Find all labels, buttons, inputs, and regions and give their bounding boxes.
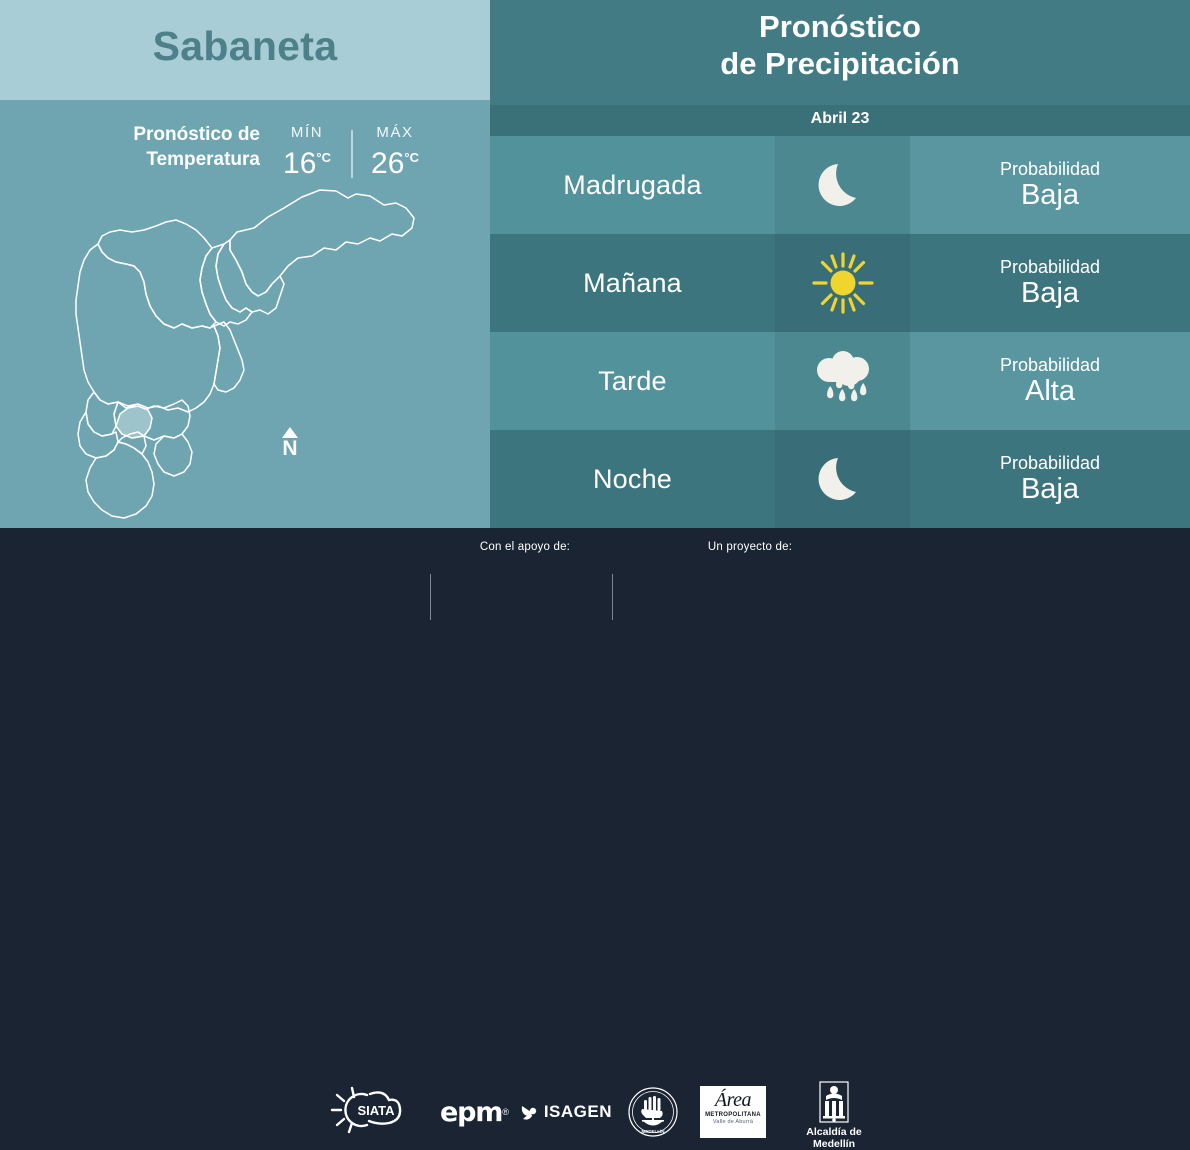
area-logo-script: Área [715, 1088, 751, 1112]
isagen-butterfly-icon [521, 1103, 541, 1121]
probability-value: Baja [1021, 474, 1079, 505]
max-unit: °C [404, 150, 419, 165]
precipitation-header: Pronóstico de Precipitación [490, 0, 1190, 105]
support-caption: Con el apoyo de: [400, 541, 650, 553]
probability-word: Probabilidad [1000, 159, 1100, 180]
map-svg [40, 172, 460, 528]
alcaldia-medellin-logo[interactable]: Alcaldía de Medellín [798, 1080, 870, 1150]
period-label: Noche [593, 464, 672, 495]
area-logo-sub2: Valle de Aburrá [713, 1119, 753, 1126]
weather-icon-cell [775, 430, 910, 528]
probability-word: Probabilidad [1000, 257, 1100, 278]
siata-logo[interactable]: SIATA [330, 1086, 422, 1134]
medellin-seal-mark: MEDELLÍN [625, 1086, 681, 1138]
max-label: MÁX [358, 124, 432, 141]
period-cell: Mañana [490, 234, 775, 332]
city-name: Sabaneta [0, 23, 490, 70]
alcaldia-logo-text: Alcaldía de Medellín [798, 1126, 870, 1150]
moon-icon [812, 448, 874, 510]
footer-divider [430, 574, 431, 620]
project-caption: Un proyecto de: [640, 541, 860, 553]
rain-cloud-icon [807, 345, 879, 417]
compass-label: N [275, 439, 305, 458]
probability-cell: Probabilidad Baja [910, 234, 1190, 332]
min-max-divider [351, 130, 353, 178]
probability-word: Probabilidad [1000, 355, 1100, 376]
min-label: MÍN [272, 124, 342, 141]
temperature-title: Pronóstico de Temperatura [60, 122, 260, 172]
isagen-logo: ISAGEN [521, 1102, 612, 1122]
probability-word: Probabilidad [1000, 453, 1100, 474]
forecast-date: Abril 23 [490, 110, 1190, 128]
period-cell: Madrugada [490, 136, 775, 234]
area-logo-sub1: METROPOLITANA [705, 1112, 761, 1119]
date-bar: Abril 23 [490, 105, 1190, 136]
area-metropolitana-logo[interactable]: Área METROPOLITANA Valle de Aburrá [700, 1086, 766, 1138]
siata-logo-text: SIATA [357, 1103, 395, 1118]
probability-value: Baja [1021, 180, 1079, 211]
forecast-row[interactable]: Madrugada Probabilidad Baja [490, 136, 1190, 234]
precipitation-title: Pronóstico de Precipitación [490, 8, 1190, 82]
temperature-panel: Pronóstico de Temperatura MÍN 16°C MÁX 2… [0, 100, 490, 528]
precipitation-title-line2: de Precipitación [490, 45, 1190, 82]
left-panel: Sabaneta Pronóstico de Temperatura MÍN 1… [0, 0, 490, 528]
weather-icon-cell [775, 332, 910, 430]
probability-cell: Probabilidad Alta [910, 332, 1190, 430]
min-unit: °C [316, 150, 331, 165]
sun-icon [810, 250, 876, 316]
forecast-row[interactable]: Tarde [490, 332, 1190, 430]
compass-north: N [275, 427, 305, 458]
forecast-rows: Madrugada Probabilidad Baja Mañana [490, 136, 1190, 528]
forecast-row[interactable]: Mañana [490, 234, 1190, 332]
weather-icon-cell [775, 234, 910, 332]
epm-logo-text: epm [440, 1097, 502, 1128]
temperature-title-line1: Pronóstico de [60, 122, 260, 147]
probability-value: Alta [1025, 376, 1075, 407]
siata-logo-mark: SIATA [330, 1086, 422, 1134]
probability-value: Baja [1021, 278, 1079, 309]
medellin-seal-logo[interactable]: MEDELLÍN [625, 1086, 681, 1138]
medellin-seal-text: MEDELLÍN [642, 1127, 665, 1134]
epm-registered-mark: ® [502, 1107, 509, 1117]
probability-cell: Probabilidad Baja [910, 430, 1190, 528]
epm-isagen-logos[interactable]: epm ® ISAGEN [440, 1096, 605, 1128]
isagen-logo-text: ISAGEN [544, 1102, 612, 1122]
precipitation-panel: Pronóstico de Precipitación Abril 23 Mad… [490, 0, 1190, 528]
temperature-title-line2: Temperatura [60, 147, 260, 172]
period-label: Tarde [598, 366, 667, 397]
footer: Con el apoyo de: Un proyecto de: SIATA e… [0, 528, 1190, 620]
precipitation-title-line1: Pronóstico [490, 8, 1190, 45]
period-label: Madrugada [563, 170, 701, 201]
period-cell: Tarde [490, 332, 775, 430]
alcaldia-crest-icon [814, 1080, 854, 1124]
city-banner: Sabaneta [0, 0, 490, 100]
probability-cell: Probabilidad Baja [910, 136, 1190, 234]
forecast-row[interactable]: Noche Probabilidad Baja [490, 430, 1190, 528]
weather-icon-cell [775, 136, 910, 234]
period-cell: Noche [490, 430, 775, 528]
moon-icon [812, 154, 874, 216]
footer-divider [612, 574, 613, 620]
aburra-valley-map [40, 172, 460, 528]
period-label: Mañana [583, 268, 682, 299]
